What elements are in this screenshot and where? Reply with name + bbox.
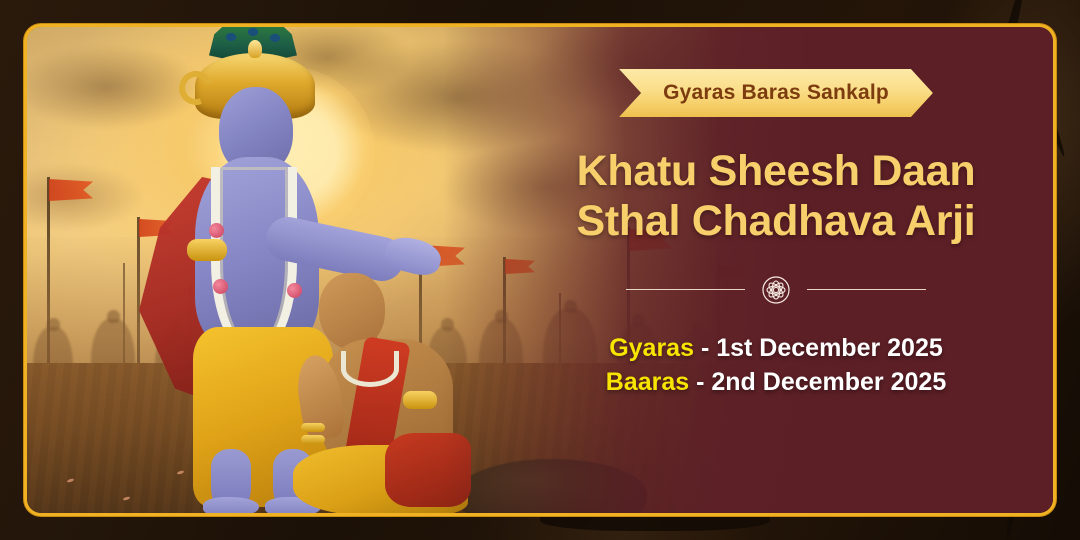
devotee-bangle xyxy=(301,423,325,432)
title-line-2: Sthal Chadhava Arji xyxy=(577,197,976,247)
rosette-ornament-icon xyxy=(745,275,807,305)
divider xyxy=(626,275,926,305)
date-label: Baaras xyxy=(606,368,689,396)
devotee-bangle xyxy=(301,435,325,444)
sankalp-ribbon: Gyaras Baras Sankalp xyxy=(619,69,933,117)
promotional-banner: Gyaras Baras Sankalp Khatu Sheesh Daan S… xyxy=(0,0,1080,540)
date-value: 2nd December 2025 xyxy=(711,368,946,396)
date-separator: - xyxy=(694,334,716,362)
garland-flower xyxy=(209,223,224,238)
divider-line-right xyxy=(807,289,926,290)
devotee-necklace xyxy=(341,351,399,387)
krishna-armlet xyxy=(187,239,227,261)
date-label: Gyaras xyxy=(609,334,694,362)
page-title: Khatu Sheesh Daan Sthal Chadhava Arji xyxy=(577,147,976,247)
krishna-foot xyxy=(203,497,259,513)
date-list: Gyaras - 1st December 2025 Baaras - 2nd … xyxy=(606,331,946,400)
date-row: Baaras - 2nd December 2025 xyxy=(606,365,946,400)
gold-framed-artwork: Gyaras Baras Sankalp Khatu Sheesh Daan S… xyxy=(27,27,1053,513)
divider-line-left xyxy=(626,289,745,290)
date-separator: - xyxy=(689,368,711,396)
banner-content: Gyaras Baras Sankalp Khatu Sheesh Daan S… xyxy=(533,27,1053,513)
date-row: Gyaras - 1st December 2025 xyxy=(606,331,946,366)
title-line-1: Khatu Sheesh Daan xyxy=(577,147,976,197)
figure-group xyxy=(27,27,497,513)
ribbon-label: Gyaras Baras Sankalp xyxy=(663,81,889,105)
devotee-armlet xyxy=(403,391,437,409)
date-value: 1st December 2025 xyxy=(716,334,943,362)
garland-flower xyxy=(213,279,228,294)
